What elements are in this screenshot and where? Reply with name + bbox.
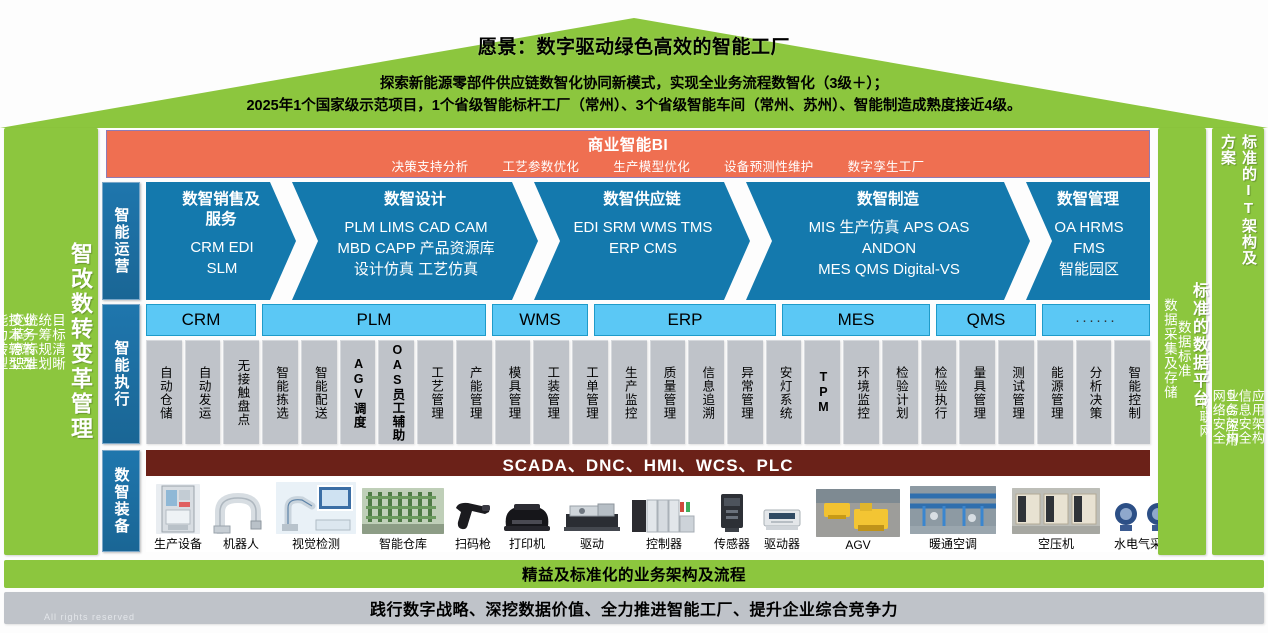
it-item-network-security: 网络安全 [1212, 389, 1225, 445]
hvac-icon [910, 486, 996, 534]
equipment-label-compressor: 空压机 [1038, 535, 1074, 552]
left-panel-column-2: 目标清晰 统筹规划 统一标准 变革意识 [34, 128, 64, 555]
data-platform-panel: 标准的数据平台 数据标准 数据采集及存储 [1158, 128, 1206, 555]
production-equipment-icon [156, 484, 200, 534]
equipment-label-vision: 视觉检测 [292, 535, 340, 552]
module-box[interactable]: 检验计划 [882, 340, 918, 444]
equipment-label-agv: AGV [845, 538, 870, 552]
chevron-apps-manufacturing: MIS 生产仿真 APS OAS ANDON MES QMS Digital-V… [746, 210, 1030, 280]
module-label-tpm: TPM [816, 370, 829, 415]
module-label-capacity-management: 产能管理 [468, 366, 481, 420]
left-item-unified-standards: 统一标准 [23, 313, 37, 371]
module-box[interactable]: AGV调度 [340, 340, 376, 444]
equipment-row: 生产设备 机器人 视觉检测 [146, 478, 1150, 552]
chevron-manufacturing[interactable]: 数智制造 MIS 生产仿真 APS OAS ANDON MES QMS Digi… [746, 182, 1030, 300]
it-architecture-title: 标准的IT架构及方案 [1217, 134, 1259, 278]
chevron-apps-sales: CRM EDI SLM [146, 230, 296, 279]
it-item-application-architecture: 应用架构 [1251, 389, 1264, 445]
roof-text-group: 愿景：数字驱动绿色高效的智能工厂 探索新能源零部件供应链数智化协同新模式，实现全… [0, 18, 1268, 128]
left-panel-title: 智改数转变革管理 [64, 242, 96, 442]
equipment-label-warehouse: 智能仓库 [379, 535, 427, 552]
layer-label-text-operation: 智能运营 [111, 207, 132, 275]
lean-process-footer-text: 精益及标准化的业务架构及流程 [522, 563, 746, 585]
equipment-label-printer: 打印机 [509, 535, 545, 552]
bi-item-list: 决策支持分析 工艺参数优化 生产模型优化 设备预测性维护 数字孪生工厂 [107, 156, 1149, 175]
agv-vehicle-icon [816, 489, 900, 537]
equipment-label-scanner: 扫码枪 [455, 535, 491, 552]
equipment-label-sensor: 传感器 [714, 535, 750, 552]
module-box[interactable]: 工艺管理 [417, 340, 453, 444]
it-architecture-items: 业务架构 网络安全 物联网 应用架构 信息安全 5G应用 [1212, 278, 1264, 555]
objective-line-1: 探索新能源零部件供应链数智化协同新模式，实现全业务流程数智化（3级＋）； [34, 73, 1234, 95]
chevron-design[interactable]: 数智设计 PLM LIMS CAD CAM MBD CAPP 产品资源库 设计仿… [292, 182, 538, 300]
module-label-exception-management: 异常管理 [739, 366, 752, 420]
bi-item-process-parameter[interactable]: 工艺参数优化 [502, 156, 579, 175]
module-box[interactable]: 自动仓储 [146, 340, 182, 444]
layer-label-smart-equipment: 数智装备 [102, 450, 140, 552]
bi-item-predictive-maintenance[interactable]: 设备预测性维护 [724, 156, 814, 175]
equipment-item[interactable]: 驱动 [562, 498, 622, 552]
sensor-icon [715, 490, 749, 534]
module-box[interactable]: 模具管理 [495, 340, 531, 444]
module-box[interactable]: 生产监控 [611, 340, 647, 444]
bi-title: 商业智能BI [107, 131, 1149, 155]
layer-label-intelligent-operation: 智能运营 [102, 182, 140, 300]
module-label-quality-management: 质量管理 [661, 366, 674, 420]
module-box[interactable]: OAS员工辅助 [378, 340, 414, 444]
system-erp[interactable]: ERP [594, 304, 776, 336]
smart-factory-architecture-diagram: 愿景：数字驱动绿色高效的智能工厂 探索新能源零部件供应链数智化协同新模式，实现全… [0, 0, 1268, 633]
left-panel-title-wrap: 智改数转变革管理 [64, 128, 96, 555]
equipment-label-hvac: 暖通空调 [929, 535, 977, 552]
module-box[interactable]: 工装管理 [533, 340, 569, 444]
module-label-work-order-management: 工单管理 [584, 366, 597, 420]
module-label-analysis-decision: 分析决策 [1087, 366, 1100, 420]
equipment-item[interactable]: 生产设备 [154, 484, 202, 552]
chevron-title-supply-chain: 数智供应链 [534, 182, 750, 210]
right-panel-1-content: 标准的数据平台 数据标准 数据采集及存储 [1158, 128, 1206, 555]
equipment-item[interactable]: 智能仓库 [362, 488, 444, 552]
equipment-label-actuator: 驱动器 [764, 535, 800, 552]
vision-statement: 愿景：数字驱动绿色高效的智能工厂 [478, 32, 790, 59]
equipment-label-drive: 驱动 [580, 535, 604, 552]
module-box[interactable]: 检验执行 [921, 340, 957, 444]
module-label-agv-scheduling: AGV调度 [351, 357, 364, 429]
chevron-management[interactable]: 数智管理 OA HRMS FMS 智能园区 [1026, 182, 1150, 300]
roof-objectives: 探索新能源零部件供应链数智化协同新模式，实现全业务流程数智化（3级＋）； 202… [34, 73, 1234, 117]
it-architecture-panel: 标准的IT架构及方案 业务架构 网络安全 物联网 应用架构 信息安全 5G应用 [1212, 128, 1264, 555]
chevron-title-manufacturing: 数智制造 [746, 182, 1030, 210]
left-item-overall-planning: 统筹规划 [36, 313, 50, 371]
equipment-label-robot: 机器人 [223, 535, 259, 552]
module-label-auto-storage: 自动仓储 [158, 366, 171, 420]
equipment-label-controller: 控制器 [646, 535, 682, 552]
strategy-footer-bar: 践行数字战略、深挖数据价值、全力推进智能工厂、提升企业综合竞争力 [4, 592, 1264, 624]
core-system-row: CRM PLM WMS ERP MES QMS ······ [146, 304, 1150, 336]
chevron-title-management: 数智管理 [1026, 182, 1150, 210]
module-box[interactable]: 智能配送 [301, 340, 337, 444]
system-qms[interactable]: QMS [936, 304, 1036, 336]
module-box[interactable]: 工单管理 [572, 340, 608, 444]
module-box[interactable]: 能源管理 [1037, 340, 1073, 444]
vision-inspection-icon [276, 482, 356, 534]
equipment-item[interactable]: AGV [816, 489, 900, 552]
system-plm[interactable]: PLM [262, 304, 486, 336]
module-label-test-management: 测试管理 [1010, 366, 1023, 420]
module-box[interactable]: TPM [804, 340, 840, 444]
robot-arm-icon [210, 492, 272, 534]
module-box[interactable]: 无接触盘点 [223, 340, 259, 444]
left-item-clear-goals: 目标清晰 [50, 313, 64, 371]
bi-item-digital-twin[interactable]: 数字孪生工厂 [848, 156, 925, 175]
chevron-title-sales: 数智销售及服务 [146, 182, 296, 230]
system-mes[interactable]: MES [782, 304, 930, 336]
equipment-item[interactable]: 视觉检测 [276, 482, 356, 552]
module-box[interactable]: 测试管理 [998, 340, 1034, 444]
module-label-oas-employee-assist: OAS员工辅助 [390, 343, 403, 442]
module-box[interactable]: 安灯系统 [766, 340, 802, 444]
chevron-apps-design: PLM LIMS CAD CAM MBD CAPP 产品资源库 设计仿真 工艺仿… [292, 210, 538, 280]
transformation-management-panel: 业务转型 技术转型 能力转型 组织变革 目标清晰 统筹规划 统一标准 变革意识 … [4, 128, 98, 555]
smart-warehouse-icon [362, 488, 444, 534]
chevron-title-design: 数智设计 [292, 182, 538, 210]
chevron-apps-management: OA HRMS FMS 智能园区 [1026, 210, 1150, 280]
module-label-smart-delivery: 智能配送 [313, 366, 326, 420]
data-platform-title: 标准的数据平台 [1190, 282, 1206, 408]
module-label-tooling-management: 工装管理 [545, 366, 558, 420]
module-label-intelligent-control: 智能控制 [1126, 366, 1139, 420]
system-crm[interactable]: CRM [146, 304, 256, 336]
equipment-label-production: 生产设备 [154, 535, 202, 552]
equipment-item[interactable]: 打印机 [502, 500, 552, 552]
equipment-item[interactable]: 传感器 [714, 490, 750, 552]
module-box[interactable]: 异常管理 [727, 340, 763, 444]
module-box[interactable]: 分析决策 [1076, 340, 1112, 444]
roof-vision-banner: 愿景：数字驱动绿色高效的智能工厂 探索新能源零部件供应链数智化协同新模式，实现全… [0, 18, 1268, 128]
module-box[interactable]: 量具管理 [959, 340, 995, 444]
module-label-inspection-plan: 检验计划 [894, 366, 907, 420]
layer-label-text-equipment: 数智装备 [111, 467, 132, 535]
architecture-body: 业务转型 技术转型 能力转型 组织变革 目标清晰 统筹规划 统一标准 变革意识 … [0, 128, 1268, 555]
module-label-environment-monitoring: 环境监控 [855, 366, 868, 420]
chevron-supply-chain[interactable]: 数智供应链 EDI SRM WMS TMS ERP CMS [534, 182, 750, 300]
left-item-change-awareness: 变革意识 [9, 313, 23, 371]
system-wms[interactable]: WMS [492, 304, 588, 336]
it-architecture-title-wrap: 标准的IT架构及方案 [1212, 128, 1264, 278]
strategy-footer-text: 践行数字战略、深挖数据价值、全力推进智能工厂、提升企业综合竞争力 [370, 596, 898, 620]
module-label-gauge-management: 量具管理 [971, 366, 984, 420]
module-box[interactable]: 智能控制 [1114, 340, 1150, 444]
equipment-item[interactable]: 暖通空调 [910, 486, 996, 552]
module-box[interactable]: 质量管理 [650, 340, 686, 444]
chevron-sales-service[interactable]: 数智销售及服务 CRM EDI SLM [146, 182, 296, 300]
module-label-information-traceability: 信息追溯 [700, 366, 713, 420]
it-panel-column-2: 应用架构 信息安全 5G应用 [1238, 278, 1264, 555]
data-standard-item: 数据标准 [1176, 320, 1190, 378]
it-item-iot: 物联网 [1198, 396, 1211, 438]
label-printer-icon [502, 500, 552, 534]
module-label-smart-picking: 智能拣选 [274, 366, 287, 420]
module-box[interactable]: 环境监控 [843, 340, 879, 444]
module-box[interactable]: 智能拣选 [262, 340, 298, 444]
equipment-item[interactable]: 机器人 [210, 492, 272, 552]
bi-item-production-model[interactable]: 生产模型优化 [613, 156, 690, 175]
bi-item-decision-support[interactable]: 决策支持分析 [392, 156, 469, 175]
module-box[interactable]: 自动发运 [185, 340, 221, 444]
lean-process-footer-bar: 精益及标准化的业务架构及流程 [4, 560, 1264, 588]
objective-line-2: 2025年1个国家级示范项目，1个省级智能标杆工厂（常州）、3个省级智能车间（常… [34, 95, 1234, 117]
equipment-item[interactable]: 扫码枪 [452, 498, 494, 552]
servo-drive-icon [562, 498, 622, 534]
module-label-energy-management: 能源管理 [1049, 366, 1062, 420]
inverter-drive-icon [760, 504, 804, 534]
module-label-andon-system: 安灯系统 [778, 366, 791, 420]
chevron-apps-supply-chain: EDI SRM WMS TMS ERP CMS [534, 210, 750, 259]
barcode-scanner-icon [452, 498, 494, 534]
equipment-item[interactable]: 空压机 [1012, 488, 1100, 552]
value-chain-arrow-row: 数智销售及服务 CRM EDI SLM 数智设计 PLM LIMS CAD CA… [146, 182, 1150, 300]
air-compressor-icon [1012, 488, 1100, 534]
module-box[interactable]: 信息追溯 [688, 340, 724, 444]
it-item-5g-application: 5G应用 [1224, 387, 1237, 447]
faint-watermark: All rights reserved [44, 612, 135, 622]
center-stack: 商业智能BI 决策支持分析 工艺参数优化 生产模型优化 设备预测性维护 数字孪生… [102, 128, 1154, 555]
system-more-placeholder[interactable]: ······ [1042, 304, 1150, 336]
scada-protocol-bar: SCADA、DNC、HMI、WCS、PLC [146, 450, 1150, 476]
it-item-information-security: 信息安全 [1238, 389, 1251, 445]
module-label-mold-management: 模具管理 [506, 366, 519, 420]
plc-controller-icon [630, 496, 698, 534]
equipment-item[interactable]: 驱动器 [760, 504, 804, 552]
module-label-contactless-inventory: 无接触盘点 [235, 359, 248, 427]
module-box[interactable]: 产能管理 [456, 340, 492, 444]
layer-label-text-execution: 智能执行 [111, 340, 132, 408]
module-label-process-management: 工艺管理 [429, 366, 442, 420]
module-label-inspection-execution: 检验执行 [932, 366, 945, 420]
left-item-capability-transformation: 能力转型 [0, 313, 6, 371]
module-row: 自动仓储 自动发运 无接触盘点 智能拣选 智能配送 AGV调度 OAS员工辅助 … [146, 340, 1150, 444]
module-label-auto-shipping: 自动发运 [197, 366, 210, 420]
layer-label-intelligent-execution: 智能执行 [102, 304, 140, 444]
module-label-production-monitoring: 生产监控 [623, 366, 636, 420]
data-collection-storage-item: 数据采集及存储 [1162, 298, 1176, 400]
equipment-item[interactable]: 控制器 [630, 496, 698, 552]
business-intelligence-bar: 商业智能BI 决策支持分析 工艺参数优化 生产模型优化 设备预测性维护 数字孪生… [106, 130, 1150, 178]
